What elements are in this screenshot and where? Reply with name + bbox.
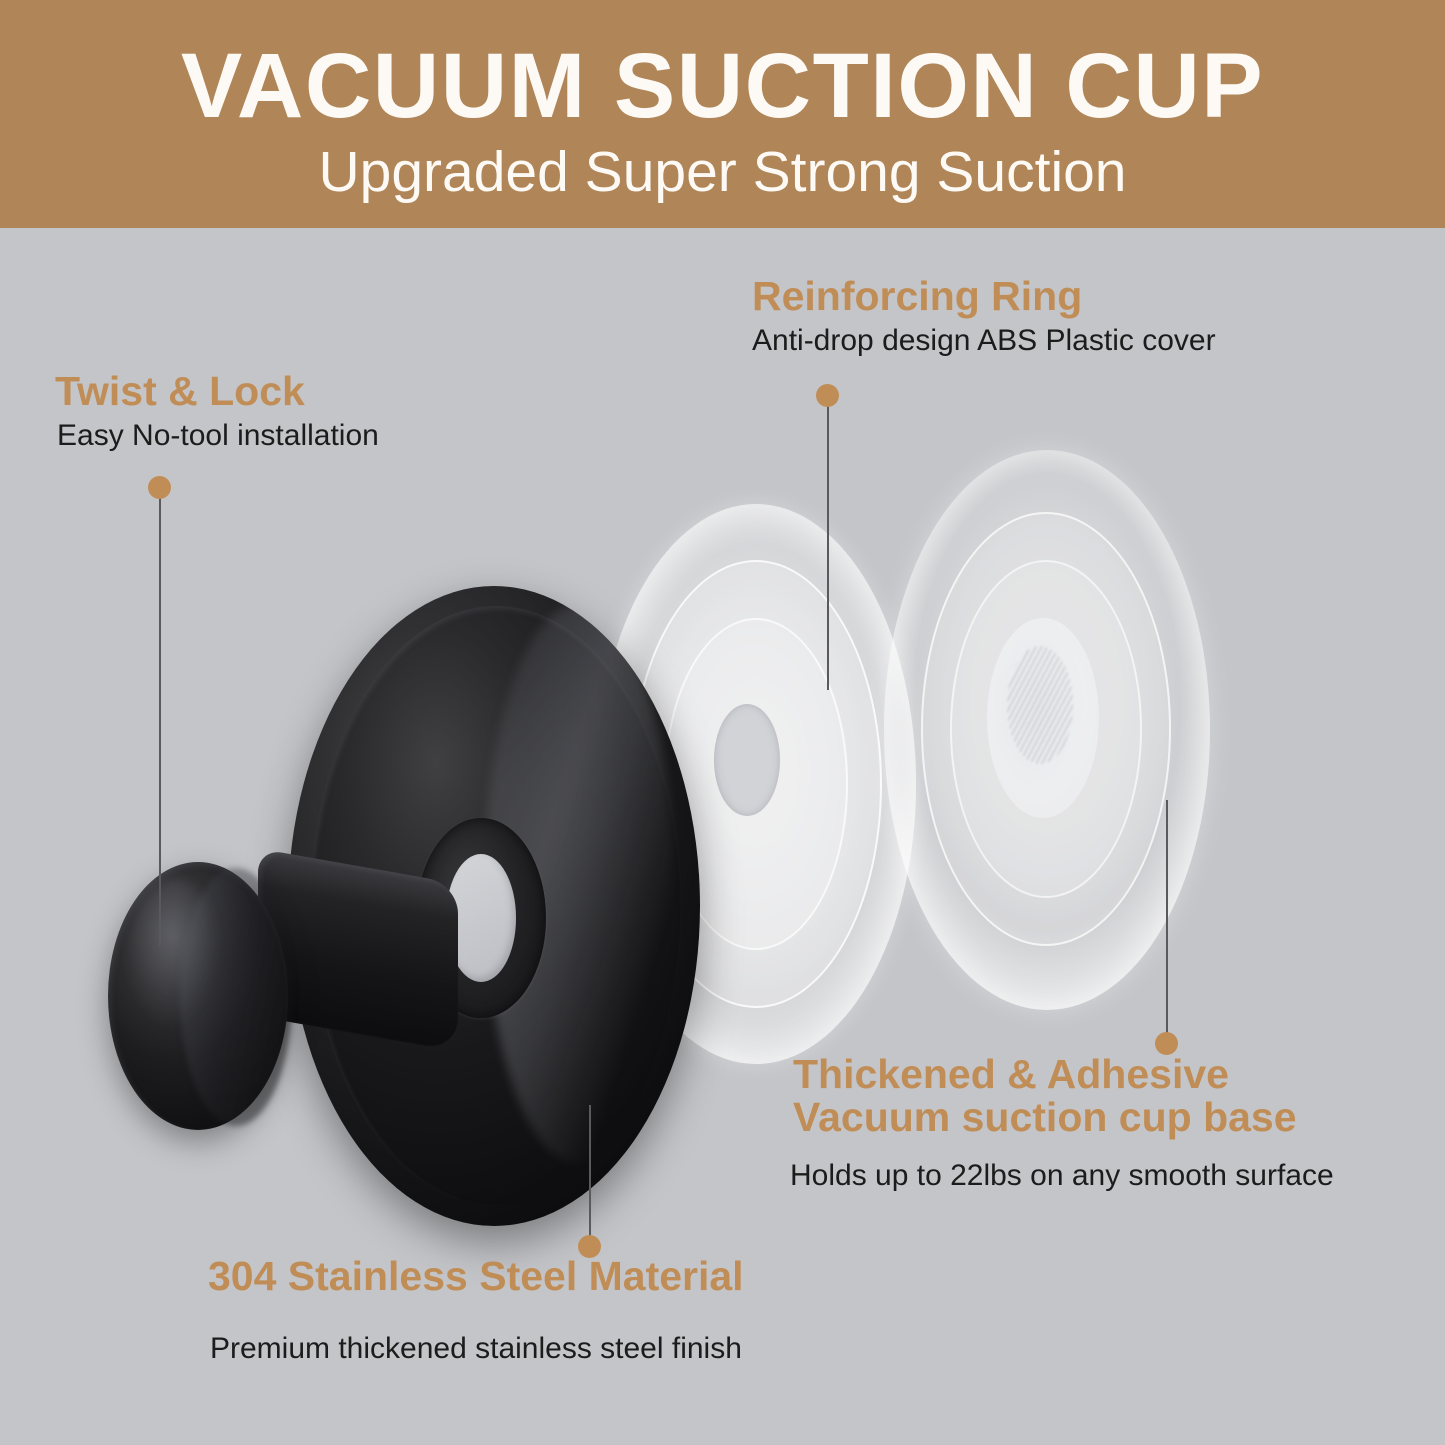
callout-title-line-1: Thickened & Adhesive (793, 1053, 1297, 1096)
callout-title-reinforcing-ring: Reinforcing Ring (752, 275, 1082, 318)
page-subtitle: Upgraded Super Strong Suction (0, 143, 1445, 203)
callout-title-twist-lock: Twist & Lock (55, 370, 305, 413)
callout-title-suction-cup-base: Thickened & Adhesive Vacuum suction cup … (793, 1053, 1297, 1140)
callout-subtitle-reinforcing-ring: Anti-drop design ABS Plastic cover (752, 325, 1216, 357)
reinforcing-ring-center-hole (714, 704, 780, 816)
callout-subtitle-stainless-steel: Premium thickened stainless steel finish (210, 1333, 742, 1365)
vacuum-suction-cup-part (884, 450, 1210, 1010)
leader-line-suction-cup-base (1166, 800, 1168, 1034)
suction-cup-center-texture (1007, 646, 1073, 764)
callout-subtitle-suction-cup-base: Holds up to 22lbs on any smooth surface (790, 1160, 1334, 1192)
callout-title-line-2: Vacuum suction cup base (793, 1096, 1297, 1139)
leader-line-stainless-steel (589, 1105, 591, 1237)
leader-line-reinforcing-ring (827, 406, 829, 690)
infographic-page: VACUUM SUCTION CUP Upgraded Super Strong… (0, 0, 1445, 1445)
callout-subtitle-twist-lock: Easy No-tool installation (57, 420, 379, 452)
header-banner: VACUUM SUCTION CUP Upgraded Super Strong… (0, 0, 1445, 228)
leader-dot-reinforcing-ring (816, 384, 839, 407)
leader-line-twist-lock (159, 498, 161, 946)
callout-title-stainless-steel: 304 Stainless Steel Material (208, 1255, 744, 1298)
leader-dot-twist-lock (148, 476, 171, 499)
hook-knob-highlight (128, 878, 220, 1028)
page-title: VACUUM SUCTION CUP (0, 38, 1445, 135)
